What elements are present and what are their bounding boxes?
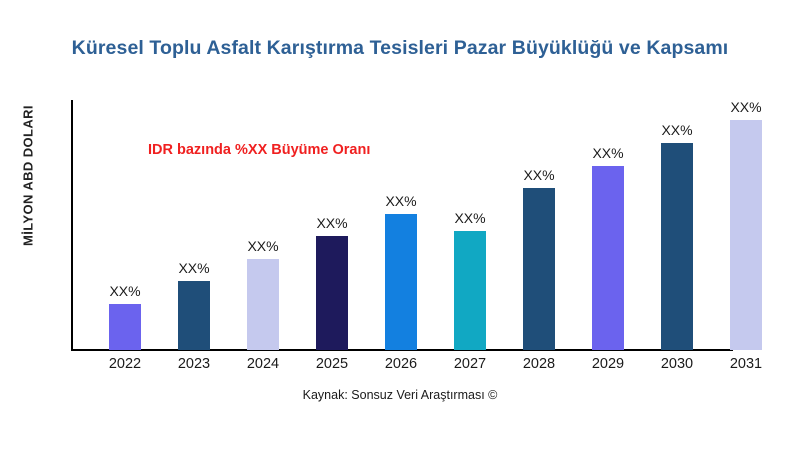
bar-rect (730, 120, 762, 350)
x-tick-2028: 2028 (504, 356, 574, 372)
bar-2029[interactable]: XX% (592, 166, 624, 350)
bar-rect (523, 188, 555, 350)
bar-rect (247, 259, 279, 350)
bar-2025[interactable]: XX% (316, 236, 348, 350)
bar-value-label: XX% (454, 210, 485, 226)
bar-value-label: XX% (316, 215, 347, 231)
bar-rect (385, 214, 417, 350)
bar-rect (316, 236, 348, 350)
bar-rect (592, 166, 624, 350)
x-tick-2030: 2030 (642, 356, 712, 372)
bar-rect (109, 304, 141, 350)
bar-value-label: XX% (178, 260, 209, 276)
bar-2022[interactable]: XX% (109, 304, 141, 350)
bar-value-label: XX% (247, 238, 278, 254)
bar-2031[interactable]: XX% (730, 120, 762, 350)
bar-2023[interactable]: XX% (178, 281, 210, 350)
bar-value-label: XX% (385, 193, 416, 209)
bar-value-label: XX% (109, 283, 140, 299)
bar-value-label: XX% (523, 167, 554, 183)
bar-rect (454, 231, 486, 350)
x-tick-2026: 2026 (366, 356, 436, 372)
bar-2026[interactable]: XX% (385, 214, 417, 350)
bar-value-label: XX% (661, 122, 692, 138)
plot-area: XX%2022XX%2023XX%2024XX%2025XX%2026XX%20… (0, 0, 800, 450)
bar-value-label: XX% (592, 145, 623, 161)
chart-container: Küresel Toplu Asfalt Karıştırma Tesisler… (0, 0, 800, 450)
x-tick-2031: 2031 (711, 356, 781, 372)
bar-2027[interactable]: XX% (454, 231, 486, 350)
x-tick-2024: 2024 (228, 356, 298, 372)
bar-2024[interactable]: XX% (247, 259, 279, 350)
source-note: Kaynak: Sonsuz Veri Araştırması © (0, 388, 800, 402)
x-tick-2023: 2023 (159, 356, 229, 372)
x-tick-2025: 2025 (297, 356, 367, 372)
bar-value-label: XX% (730, 99, 761, 115)
bar-2030[interactable]: XX% (661, 143, 693, 350)
bar-rect (661, 143, 693, 350)
bar-2028[interactable]: XX% (523, 188, 555, 350)
x-tick-2027: 2027 (435, 356, 505, 372)
x-tick-2029: 2029 (573, 356, 643, 372)
x-tick-2022: 2022 (90, 356, 160, 372)
bar-rect (178, 281, 210, 350)
